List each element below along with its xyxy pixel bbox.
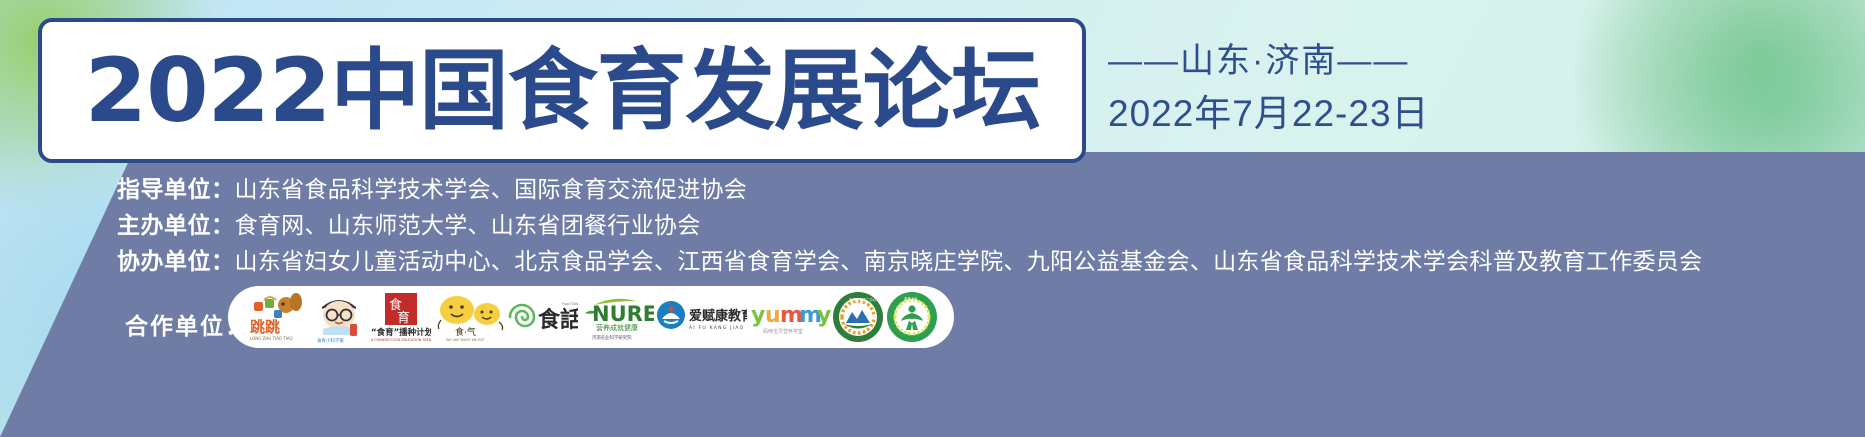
partner-logo-ai-fu-kang-jiao-yu: 爱赋康教育 AI FU KANG JIAO YU [655, 291, 747, 343]
partner-logo-shi-hua: 食話 Food Talk [506, 291, 578, 343]
partner-logo-shi-yu-seed-plan: 食 育 “食育”播种计划 A CHINESE FOOD EDUCATION SE… [369, 291, 431, 343]
forum-banner: 2022中国食育发展论坛 ——山东·济南—— 2022年7月22-23日 指导单… [0, 0, 1865, 437]
org-line-guidance: 指导单位：山东省食品科学技术学会、国际食育交流促进协会 [117, 178, 747, 201]
org-label: 指导单位： [117, 176, 235, 202]
svg-text:y: y [751, 303, 765, 328]
org-label: 协办单位： [117, 248, 235, 274]
svg-text:y: y [817, 303, 831, 328]
org-line-host: 主办单位：食育网、山东师范大学、山东省团餐行业协会 [117, 214, 701, 237]
partner-logo-shi-yu-boy: 食育小科学家 [310, 291, 368, 343]
partners-logo-bar: 跳跳 LONG ZHU TIAO TIAO 食育小科学家 食 [228, 286, 954, 348]
svg-text:跳跳: 跳跳 [250, 318, 280, 336]
svg-text:食育小科学家: 食育小科学家 [317, 337, 344, 343]
svg-text:AI FU KANG JIAO YU: AI FU KANG JIAO YU [689, 325, 747, 331]
org-value: 食育网、山东师范大学、山东省团餐行业协会 [235, 212, 701, 238]
org-line-coorganizer: 协办单位：山东省妇女儿童活动中心、北京食品学会、江西省食育学会、南京晓庄学院、九… [117, 250, 1702, 273]
event-date: 2022年7月22-23日 [1108, 91, 1528, 137]
partner-logo-mountain-emblem: 食育研究推广中心 [832, 291, 884, 343]
svg-text:NURE: NURE [592, 302, 654, 326]
svg-text:育: 育 [397, 310, 410, 326]
event-location: ——山东·济南—— [1108, 40, 1528, 83]
svg-text:河南农业科学研究院: 河南农业科学研究院 [592, 334, 632, 341]
svg-text:爱赋康教育: 爱赋康教育 [689, 308, 747, 324]
partner-logo-shi-qi: 食·气 WE ARE WHAT WE EAT [433, 291, 505, 343]
svg-text:妈咪宝贝营养学堂: 妈咪宝贝营养学堂 [763, 328, 803, 335]
org-value: 山东省食品科学技术学会、国际食育交流促进协会 [235, 176, 748, 202]
svg-text:LONG ZHU TIAO TIAO: LONG ZHU TIAO TIAO [250, 336, 293, 341]
svg-text:Food Talk: Food Talk [562, 302, 578, 306]
org-value: 山东省妇女儿童活动中心、北京食品学会、江西省食育学会、南京晓庄学院、九阳公益基金… [235, 248, 1703, 274]
svg-text:A CHINESE FOOD EDUCATION SEEDI: A CHINESE FOOD EDUCATION SEEDING PLAN [371, 338, 431, 342]
partner-logo-long-zhu-tiao-tiao: 跳跳 LONG ZHU TIAO TIAO [244, 291, 308, 343]
svg-text:WE ARE WHAT WE EAT: WE ARE WHAT WE EAT [446, 338, 485, 342]
partner-logo-green-person-emblem: 食育大会 [886, 291, 938, 343]
svg-text:食·气: 食·气 [455, 326, 476, 338]
svg-text:食話: 食話 [538, 307, 578, 333]
title-card: 2022中国食育发展论坛 [38, 18, 1086, 163]
svg-text:“食育”播种计划: “食育”播种计划 [371, 327, 431, 338]
svg-text:食育研究推广中心: 食育研究推广中心 [849, 297, 877, 302]
partner-logo-nure: NURE 营养成就健康 河南农业科学研究院 [580, 291, 654, 343]
svg-text:食育大会: 食育大会 [904, 296, 918, 301]
svg-text:u: u [765, 303, 781, 328]
event-meta: ——山东·济南—— 2022年7月22-23日 [1108, 40, 1528, 137]
svg-text:营养成就健康: 营养成就健康 [596, 323, 638, 332]
partner-logo-yummy: y u m m y 妈咪宝贝营养学堂 [749, 291, 831, 343]
org-label: 主办单位： [117, 212, 235, 238]
